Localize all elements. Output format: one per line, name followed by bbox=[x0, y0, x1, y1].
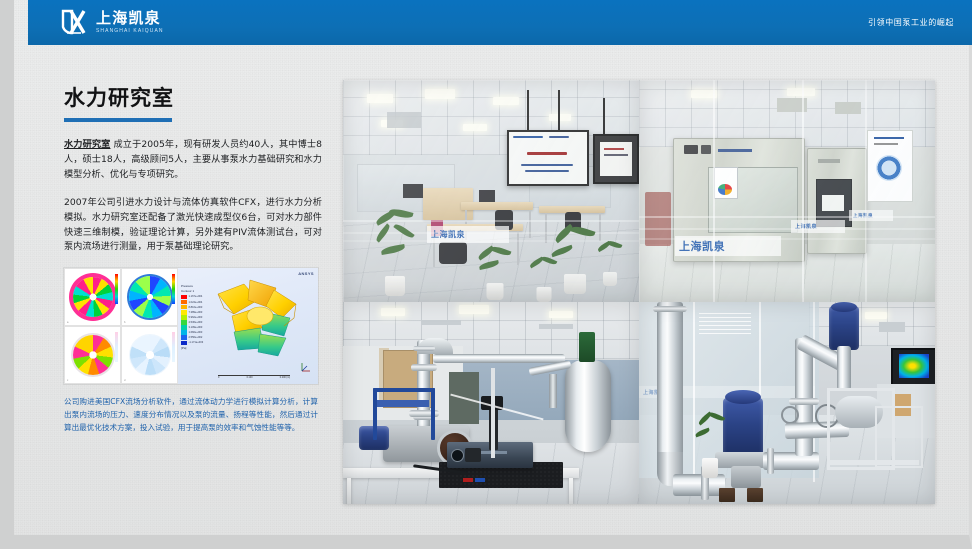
cfd-panel-a: a bbox=[64, 268, 121, 326]
cfd-panel-c: c bbox=[64, 326, 121, 384]
legend-value: 5.962e+003 bbox=[189, 316, 203, 319]
impeller-contour-plot bbox=[73, 335, 113, 375]
photo-piv-test-rig[interactable] bbox=[343, 302, 639, 504]
cfd-contour-grid: a b c d bbox=[64, 268, 178, 384]
handwheel-icon bbox=[781, 406, 799, 424]
impeller-contour-plot bbox=[129, 276, 171, 318]
paragraph-lead-label: 水力研究室 bbox=[64, 139, 110, 150]
legend-swatch bbox=[181, 310, 187, 315]
ceiling bbox=[809, 302, 935, 346]
paragraph-intro: 水力研究室 成立于2005年，现有研发人员约40人，其中博士8人，硕士18人，高… bbox=[64, 138, 322, 183]
slide-root: 上海凯泉 SHANGHAI KAIQUAN 引领中国泵工业的崛起 水力研究室 水… bbox=[0, 0, 972, 549]
legend-value: 4.536e+003 bbox=[189, 321, 203, 324]
legend-value: -1.171e+003 bbox=[189, 341, 204, 344]
paragraph-software: 2007年公司引进水力设计与流体仿真软件CFX，进行水力分析模拟。水力研究室还配… bbox=[64, 196, 322, 256]
kaiquan-kx-emblem-icon bbox=[59, 7, 89, 37]
cfd-panel-b: b bbox=[121, 268, 178, 326]
tank-valve bbox=[579, 332, 595, 362]
colorbar bbox=[115, 274, 118, 304]
legend-swatch bbox=[181, 315, 187, 320]
panel-label: a bbox=[67, 321, 68, 324]
legend-swatch bbox=[181, 330, 187, 335]
legend-value: 3.109e+003 bbox=[189, 326, 203, 329]
photo-pump-test-stand[interactable]: 上海凯泉 bbox=[639, 302, 935, 504]
impeller-3d-render bbox=[204, 274, 316, 368]
legend-value: 1.167e+004 bbox=[189, 295, 203, 298]
panel-label: c bbox=[67, 379, 68, 382]
panel-label: d bbox=[124, 379, 125, 382]
vertical-pump-motor-right bbox=[829, 306, 859, 350]
riser-pipe bbox=[657, 302, 683, 458]
colorbar bbox=[172, 274, 175, 304]
photo-rapid-prototyping[interactable]: 上海凯泉 上海凯泉 上海凯泉 bbox=[639, 80, 935, 302]
scale-tick-label: 0.100 bbox=[247, 376, 253, 379]
legend-swatch bbox=[181, 335, 187, 340]
cfd-3d-view: ANSYS Pressure Contour 1 1.167e+0041.024… bbox=[178, 268, 318, 384]
cfd-caption: 公司购进美国CFX流场分析软件，通过流体动力学进行模拟计算分析，计算出泵内流场的… bbox=[64, 395, 318, 434]
impeller-contour-plot bbox=[130, 335, 170, 375]
cfd-figure: a b c d ANSYS bbox=[64, 268, 318, 384]
legend-value: 2.556e+002 bbox=[189, 336, 203, 339]
photo-research-office[interactable]: 上海凯泉 bbox=[343, 80, 639, 302]
logo-english-text: SHANGHAI KAIQUAN bbox=[96, 29, 164, 34]
scale-bar: 00.1000.200 (m) bbox=[218, 375, 290, 380]
legend-swatch bbox=[181, 325, 187, 330]
scale-tick-label: 0 bbox=[218, 376, 219, 379]
legend-swatch bbox=[181, 320, 187, 325]
legend-value: 7.389e+003 bbox=[189, 311, 203, 314]
colorbar bbox=[172, 332, 175, 362]
legend-value: 1.682e+003 bbox=[189, 331, 203, 334]
cfd-monitor bbox=[891, 348, 935, 386]
legend-swatch bbox=[181, 295, 187, 300]
impeller-contour-plot bbox=[73, 277, 113, 317]
page-title: 水力研究室 bbox=[64, 82, 322, 112]
legend-value: 8.816e+003 bbox=[189, 306, 203, 309]
legend-swatch bbox=[181, 341, 187, 346]
legend-value: 1.024e+004 bbox=[189, 301, 203, 304]
legend-swatch bbox=[181, 305, 187, 310]
title-underline-rule bbox=[64, 118, 172, 122]
cfd-panel-d: d bbox=[121, 326, 178, 384]
axis-triad-icon bbox=[298, 360, 312, 374]
photo-gallery: 上海凯泉 bbox=[343, 80, 935, 504]
panel-label: b bbox=[124, 321, 125, 324]
logo-chinese-text: 上海凯泉 bbox=[96, 11, 164, 26]
brand-logo[interactable]: 上海凯泉 SHANGHAI KAIQUAN bbox=[59, 7, 164, 37]
left-content-column: 水力研究室 水力研究室 成立于2005年，现有研发人员约40人，其中博士8人，硕… bbox=[64, 82, 322, 434]
header-slogan: 引领中国泵工业的崛起 bbox=[868, 0, 954, 45]
legend-swatch bbox=[181, 300, 187, 305]
plant bbox=[695, 414, 725, 478]
scale-tick-label: 0.200 (m) bbox=[280, 376, 290, 379]
colorbar bbox=[115, 332, 118, 362]
page-header: 上海凯泉 SHANGHAI KAIQUAN 引领中国泵工业的崛起 bbox=[28, 0, 972, 45]
vertical-pump-motor-left bbox=[723, 398, 763, 456]
pressure-tank bbox=[565, 360, 611, 452]
overhead-pipe bbox=[433, 354, 565, 363]
